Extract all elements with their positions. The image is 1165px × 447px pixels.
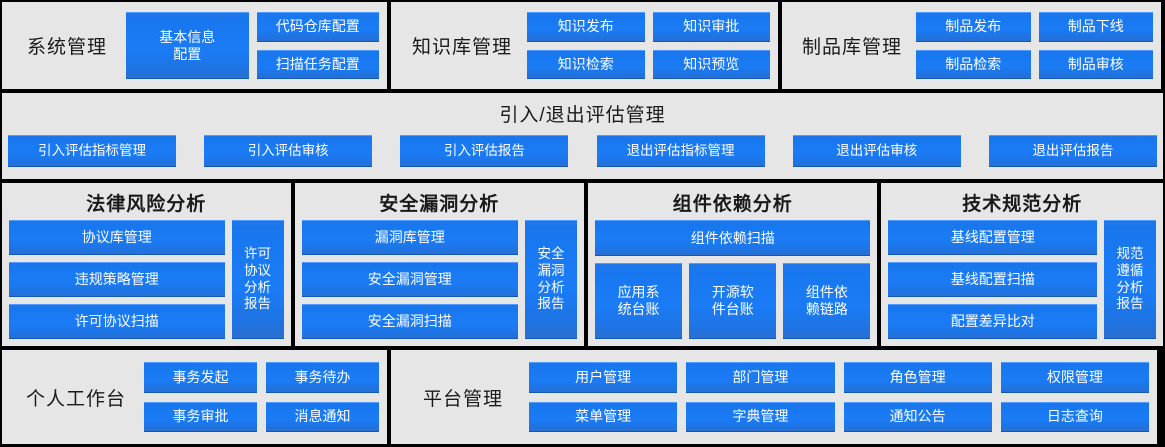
panel-title-wrap: 系统管理 — [8, 32, 126, 59]
button-area: 组件依赖扫描 应用系 统台账 开源软 件台账 组件依 赖链路 — [595, 220, 870, 339]
panel-title-artifact-repository-management: 制品库管理 — [802, 32, 902, 59]
panel-title-wrap: 平台管理 — [397, 384, 529, 411]
row-evaluation-management: 引入/退出评估管理 引入评估指标管理 引入评估审核 引入评估报告 退出评估指标管… — [2, 93, 1163, 179]
button-security-vulnerability-analysis-report[interactable]: 安全 漏洞 分析 报告 — [525, 220, 577, 339]
panel-system-management: 系统管理 基本信息 配置 代码仓库配置 扫描任务配置 — [2, 2, 387, 89]
button-column: 角色管理 通知公告 — [844, 362, 992, 432]
button-license-analysis-report[interactable]: 许可 协议 分析 报告 — [232, 220, 284, 339]
button-column: 制品发布 制品检索 — [916, 12, 1031, 79]
row-system-knowledge-product: 系统管理 基本信息 配置 代码仓库配置 扫描任务配置 知识库管理 知识发布 知识… — [2, 2, 1163, 89]
button-task-initiate[interactable]: 事务发起 — [144, 362, 257, 393]
button-area: 引入评估指标管理 引入评估审核 引入评估报告 退出评估指标管理 退出评估审核 退… — [8, 135, 1157, 167]
button-component-dependency-chain[interactable]: 组件依 赖链路 — [783, 263, 870, 339]
button-artifact-search[interactable]: 制品检索 — [916, 50, 1031, 80]
button-column: 部门管理 字典管理 — [686, 362, 834, 432]
panel-title-wrap: 知识库管理 — [397, 32, 527, 59]
button-area: 基线配置管理 基线配置扫描 配置差异比对 规范 遵循 分析 报告 — [888, 220, 1156, 339]
button-knowledge-publish[interactable]: 知识发布 — [527, 12, 645, 42]
button-code-repo-config[interactable]: 代码仓库配置 — [257, 12, 380, 42]
button-scan-task-config[interactable]: 扫描任务配置 — [257, 50, 380, 80]
button-dictionary-management[interactable]: 字典管理 — [686, 402, 834, 433]
panel-title-knowledge-base-management: 知识库管理 — [412, 32, 512, 59]
button-entry-eval-indicator-management[interactable]: 引入评估指标管理 — [8, 135, 176, 167]
button-artifact-publish[interactable]: 制品发布 — [916, 12, 1031, 42]
panel-title-wrap: 技术规范分析 — [888, 187, 1156, 220]
panel-title-wrap: 制品库管理 — [788, 32, 916, 59]
button-area: 漏洞库管理 安全漏洞管理 安全漏洞扫描 安全 漏洞 分析 报告 — [302, 220, 577, 339]
panel-entry-exit-evaluation-management: 引入/退出评估管理 引入评估指标管理 引入评估审核 引入评估报告 退出评估指标管… — [2, 93, 1163, 179]
button-area: 用户管理 菜单管理 部门管理 字典管理 角色管理 通知公告 权限管理 日志查询 — [529, 356, 1149, 438]
panel-knowledge-base-management: 知识库管理 知识发布 知识检索 知识审批 知识预览 — [391, 2, 778, 89]
button-area: 制品发布 制品检索 制品下线 制品审核 — [916, 8, 1153, 83]
button-knowledge-preview[interactable]: 知识预览 — [653, 50, 771, 80]
button-config-difference-comparison[interactable]: 配置差异比对 — [888, 304, 1097, 339]
panel-security-vulnerability-analysis: 安全漏洞分析 漏洞库管理 安全漏洞管理 安全漏洞扫描 安全 漏洞 分析 报告 — [295, 183, 584, 346]
button-exit-eval-report[interactable]: 退出评估报告 — [989, 135, 1157, 167]
button-department-management[interactable]: 部门管理 — [686, 362, 834, 393]
button-violation-policy-management[interactable]: 违规策略管理 — [9, 262, 225, 297]
panel-title-entry-exit-evaluation-management: 引入/退出评估管理 — [499, 105, 665, 126]
button-baseline-config-scan[interactable]: 基线配置扫描 — [888, 262, 1097, 297]
button-message-notification[interactable]: 消息通知 — [266, 402, 379, 433]
panel-title-wrap: 组件依赖分析 — [595, 187, 870, 220]
panel-title-wrap: 个人工作台 — [8, 384, 144, 411]
button-area: 知识发布 知识检索 知识审批 知识预览 — [527, 8, 770, 83]
button-area: 基本信息 配置 代码仓库配置 扫描任务配置 — [126, 8, 379, 83]
button-exit-eval-indicator-management[interactable]: 退出评估指标管理 — [597, 135, 765, 167]
panel-platform-management: 平台管理 用户管理 菜单管理 部门管理 字典管理 角色管理 通知公告 权限管理 … — [391, 350, 1157, 444]
button-column: 权限管理 日志查询 — [1001, 362, 1149, 432]
button-specification-compliance-analysis-report[interactable]: 规范 遵循 分析 报告 — [1104, 220, 1156, 339]
panel-title-wrap: 引入/退出评估管理 — [8, 97, 1157, 129]
panel-personal-workbench: 个人工作台 事务发起 事务审批 事务待办 消息通知 — [2, 350, 387, 444]
button-knowledge-approval[interactable]: 知识审批 — [653, 12, 771, 42]
button-task-approval[interactable]: 事务审批 — [144, 402, 257, 433]
button-permission-management[interactable]: 权限管理 — [1001, 362, 1149, 393]
button-vulnerability-library-management[interactable]: 漏洞库管理 — [302, 220, 518, 255]
panel-title-technical-specification-analysis: 技术规范分析 — [962, 194, 1082, 215]
button-column: 基线配置管理 基线配置扫描 配置差异比对 — [888, 220, 1097, 339]
button-task-todo[interactable]: 事务待办 — [266, 362, 379, 393]
button-column: 代码仓库配置 扫描任务配置 — [257, 12, 380, 79]
button-column: 协议库管理 违规策略管理 许可协议扫描 — [9, 220, 225, 339]
button-open-source-software-ledger[interactable]: 开源软 件台账 — [689, 263, 776, 339]
panel-legal-risk-analysis: 法律风险分析 协议库管理 违规策略管理 许可协议扫描 许可 协议 分析 报告 — [2, 183, 291, 346]
button-row: 应用系 统台账 开源软 件台账 组件依 赖链路 — [595, 263, 870, 339]
button-basic-info-config[interactable]: 基本信息 配置 — [126, 12, 249, 79]
button-column: 事务发起 事务审批 — [144, 362, 257, 432]
button-column: 知识审批 知识预览 — [653, 12, 771, 79]
button-component-dependency-scan[interactable]: 组件依赖扫描 — [595, 220, 870, 256]
button-license-library-management[interactable]: 协议库管理 — [9, 220, 225, 255]
button-column: 基本信息 配置 — [126, 12, 249, 79]
function-map-board: 系统管理 基本信息 配置 代码仓库配置 扫描任务配置 知识库管理 知识发布 知识… — [0, 0, 1165, 447]
panel-title-wrap: 法律风险分析 — [9, 187, 284, 220]
row-analysis-modules: 法律风险分析 协议库管理 违规策略管理 许可协议扫描 许可 协议 分析 报告 安… — [2, 183, 1163, 346]
row-workbench-platform: 个人工作台 事务发起 事务审批 事务待办 消息通知 平台管理 用户管理 — [2, 350, 1163, 444]
button-application-system-ledger[interactable]: 应用系 统台账 — [595, 263, 682, 339]
button-entry-eval-review[interactable]: 引入评估审核 — [204, 135, 372, 167]
panel-title-wrap: 安全漏洞分析 — [302, 187, 577, 220]
panel-artifact-repository-management: 制品库管理 制品发布 制品检索 制品下线 制品审核 — [782, 2, 1161, 89]
button-area: 事务发起 事务审批 事务待办 消息通知 — [144, 356, 379, 438]
panel-title-legal-risk-analysis: 法律风险分析 — [86, 194, 206, 215]
button-column: 事务待办 消息通知 — [266, 362, 379, 432]
button-security-vulnerability-management[interactable]: 安全漏洞管理 — [302, 262, 518, 297]
button-security-vulnerability-scan[interactable]: 安全漏洞扫描 — [302, 304, 518, 339]
button-column: 制品下线 制品审核 — [1039, 12, 1154, 79]
button-notice-announcement[interactable]: 通知公告 — [844, 402, 992, 433]
button-baseline-config-management[interactable]: 基线配置管理 — [888, 220, 1097, 255]
button-column: 知识发布 知识检索 — [527, 12, 645, 79]
button-column: 漏洞库管理 安全漏洞管理 安全漏洞扫描 — [302, 220, 518, 339]
button-user-management[interactable]: 用户管理 — [529, 362, 677, 393]
button-role-management[interactable]: 角色管理 — [844, 362, 992, 393]
panel-title-component-dependency-analysis: 组件依赖分析 — [673, 194, 793, 215]
button-exit-eval-review[interactable]: 退出评估审核 — [793, 135, 961, 167]
button-artifact-offline[interactable]: 制品下线 — [1039, 12, 1154, 42]
panel-title-security-vulnerability-analysis: 安全漏洞分析 — [379, 194, 499, 215]
panel-technical-specification-analysis: 技术规范分析 基线配置管理 基线配置扫描 配置差异比对 规范 遵循 分析 报告 — [881, 183, 1163, 346]
button-knowledge-search[interactable]: 知识检索 — [527, 50, 645, 80]
button-menu-management[interactable]: 菜单管理 — [529, 402, 677, 433]
panel-title-personal-workbench: 个人工作台 — [26, 384, 126, 411]
button-license-agreement-scan[interactable]: 许可协议扫描 — [9, 304, 225, 339]
panel-title-system-management: 系统管理 — [27, 32, 107, 59]
button-column: 用户管理 菜单管理 — [529, 362, 677, 432]
button-log-query[interactable]: 日志查询 — [1001, 402, 1149, 433]
panel-title-platform-management: 平台管理 — [423, 384, 503, 411]
button-area: 协议库管理 违规策略管理 许可协议扫描 许可 协议 分析 报告 — [9, 220, 284, 339]
button-entry-eval-report[interactable]: 引入评估报告 — [400, 135, 568, 167]
button-artifact-audit[interactable]: 制品审核 — [1039, 50, 1154, 80]
panel-component-dependency-analysis: 组件依赖分析 组件依赖扫描 应用系 统台账 开源软 件台账 组件依 赖链路 — [588, 183, 877, 346]
